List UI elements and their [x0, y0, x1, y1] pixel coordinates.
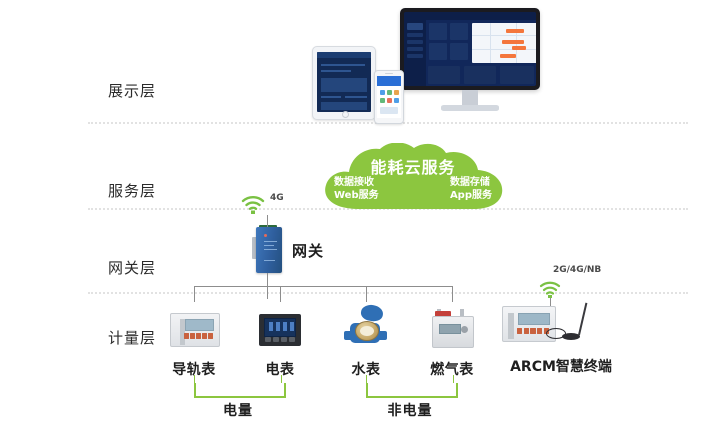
- connector-bus-to-din-rail: [194, 286, 195, 302]
- antenna-icon: [578, 303, 587, 336]
- bracket-electric-label: 电量: [194, 400, 282, 420]
- layer-label-service: 服务层: [108, 180, 198, 201]
- gateway-network-label: 4G: [270, 193, 284, 203]
- monitor-bezel: [400, 8, 540, 90]
- tablet-device-icon: [312, 46, 376, 120]
- bracket-tick-din-rail: [194, 375, 195, 383]
- tablet-home-button: [342, 111, 349, 118]
- phone-speaker: [385, 73, 393, 75]
- bracket-tick-electricity: [281, 375, 282, 383]
- bracket-tick-water: [366, 375, 367, 383]
- bracket-non-electric-label: 非电量: [366, 400, 454, 420]
- bracket-non-electric-group: [366, 383, 458, 398]
- cloud-service-columns: 数据接收 Web服务 数据存储 App服务: [334, 176, 492, 202]
- monitor-stand-neck: [462, 90, 478, 106]
- bracket-tick-gas: [453, 375, 454, 383]
- water-meter-icon: [334, 303, 398, 355]
- electricity-meter-label: 电表: [248, 359, 312, 379]
- layer-separator-3: [88, 292, 688, 294]
- desktop-monitor-icon: [400, 8, 540, 120]
- wifi-signal-icon: [538, 278, 562, 298]
- gas-meter-label: 燃气表: [420, 359, 484, 379]
- arcm-terminal-icon: [498, 300, 618, 352]
- cloud-column-receive: 数据接收 Web服务: [334, 176, 379, 202]
- layer-label-presentation: 展示层: [108, 80, 198, 101]
- metering-bus-line: [194, 286, 452, 287]
- arcm-terminal-label: ARCM智慧终端: [498, 356, 624, 376]
- connector-bus-to-gas: [452, 286, 453, 302]
- gateway-label: 网关: [292, 240, 324, 261]
- monitor-stand-base: [441, 105, 499, 111]
- connector-bus-to-water: [366, 286, 367, 302]
- gateway-device-icon: [252, 227, 284, 273]
- monitor-bottom-cards: [428, 66, 534, 84]
- cloud-title: 能耗云服务: [318, 154, 508, 178]
- tablet-screen: [317, 52, 371, 112]
- smartphone-device-icon: [374, 70, 404, 124]
- monitor-map-panel: [472, 23, 536, 63]
- presentation-devices-group: [300, 8, 540, 120]
- bracket-electric-group: [194, 383, 286, 398]
- cloud-column-storage: 数据存储 App服务: [450, 176, 492, 202]
- energy-cloud-service: 能耗云服务 数据接收 Web服务 数据存储 App服务: [318, 143, 508, 211]
- monitor-screen: [404, 12, 536, 86]
- architecture-diagram: 展示层 服务层 网关层 计量层: [0, 0, 715, 443]
- wifi-signal-icon: [240, 192, 266, 214]
- arcm-network-label: 2G/4G/NB: [553, 265, 601, 275]
- connector-cloud-to-gateway: [267, 215, 268, 227]
- layer-label-gateway: 网关层: [108, 257, 198, 278]
- din-rail-meter-icon: [162, 303, 226, 355]
- gas-meter-icon: [420, 303, 484, 355]
- phone-screen: [377, 76, 401, 118]
- panel-meter-icon: [248, 303, 312, 355]
- connector-bus-to-electricity: [280, 286, 281, 302]
